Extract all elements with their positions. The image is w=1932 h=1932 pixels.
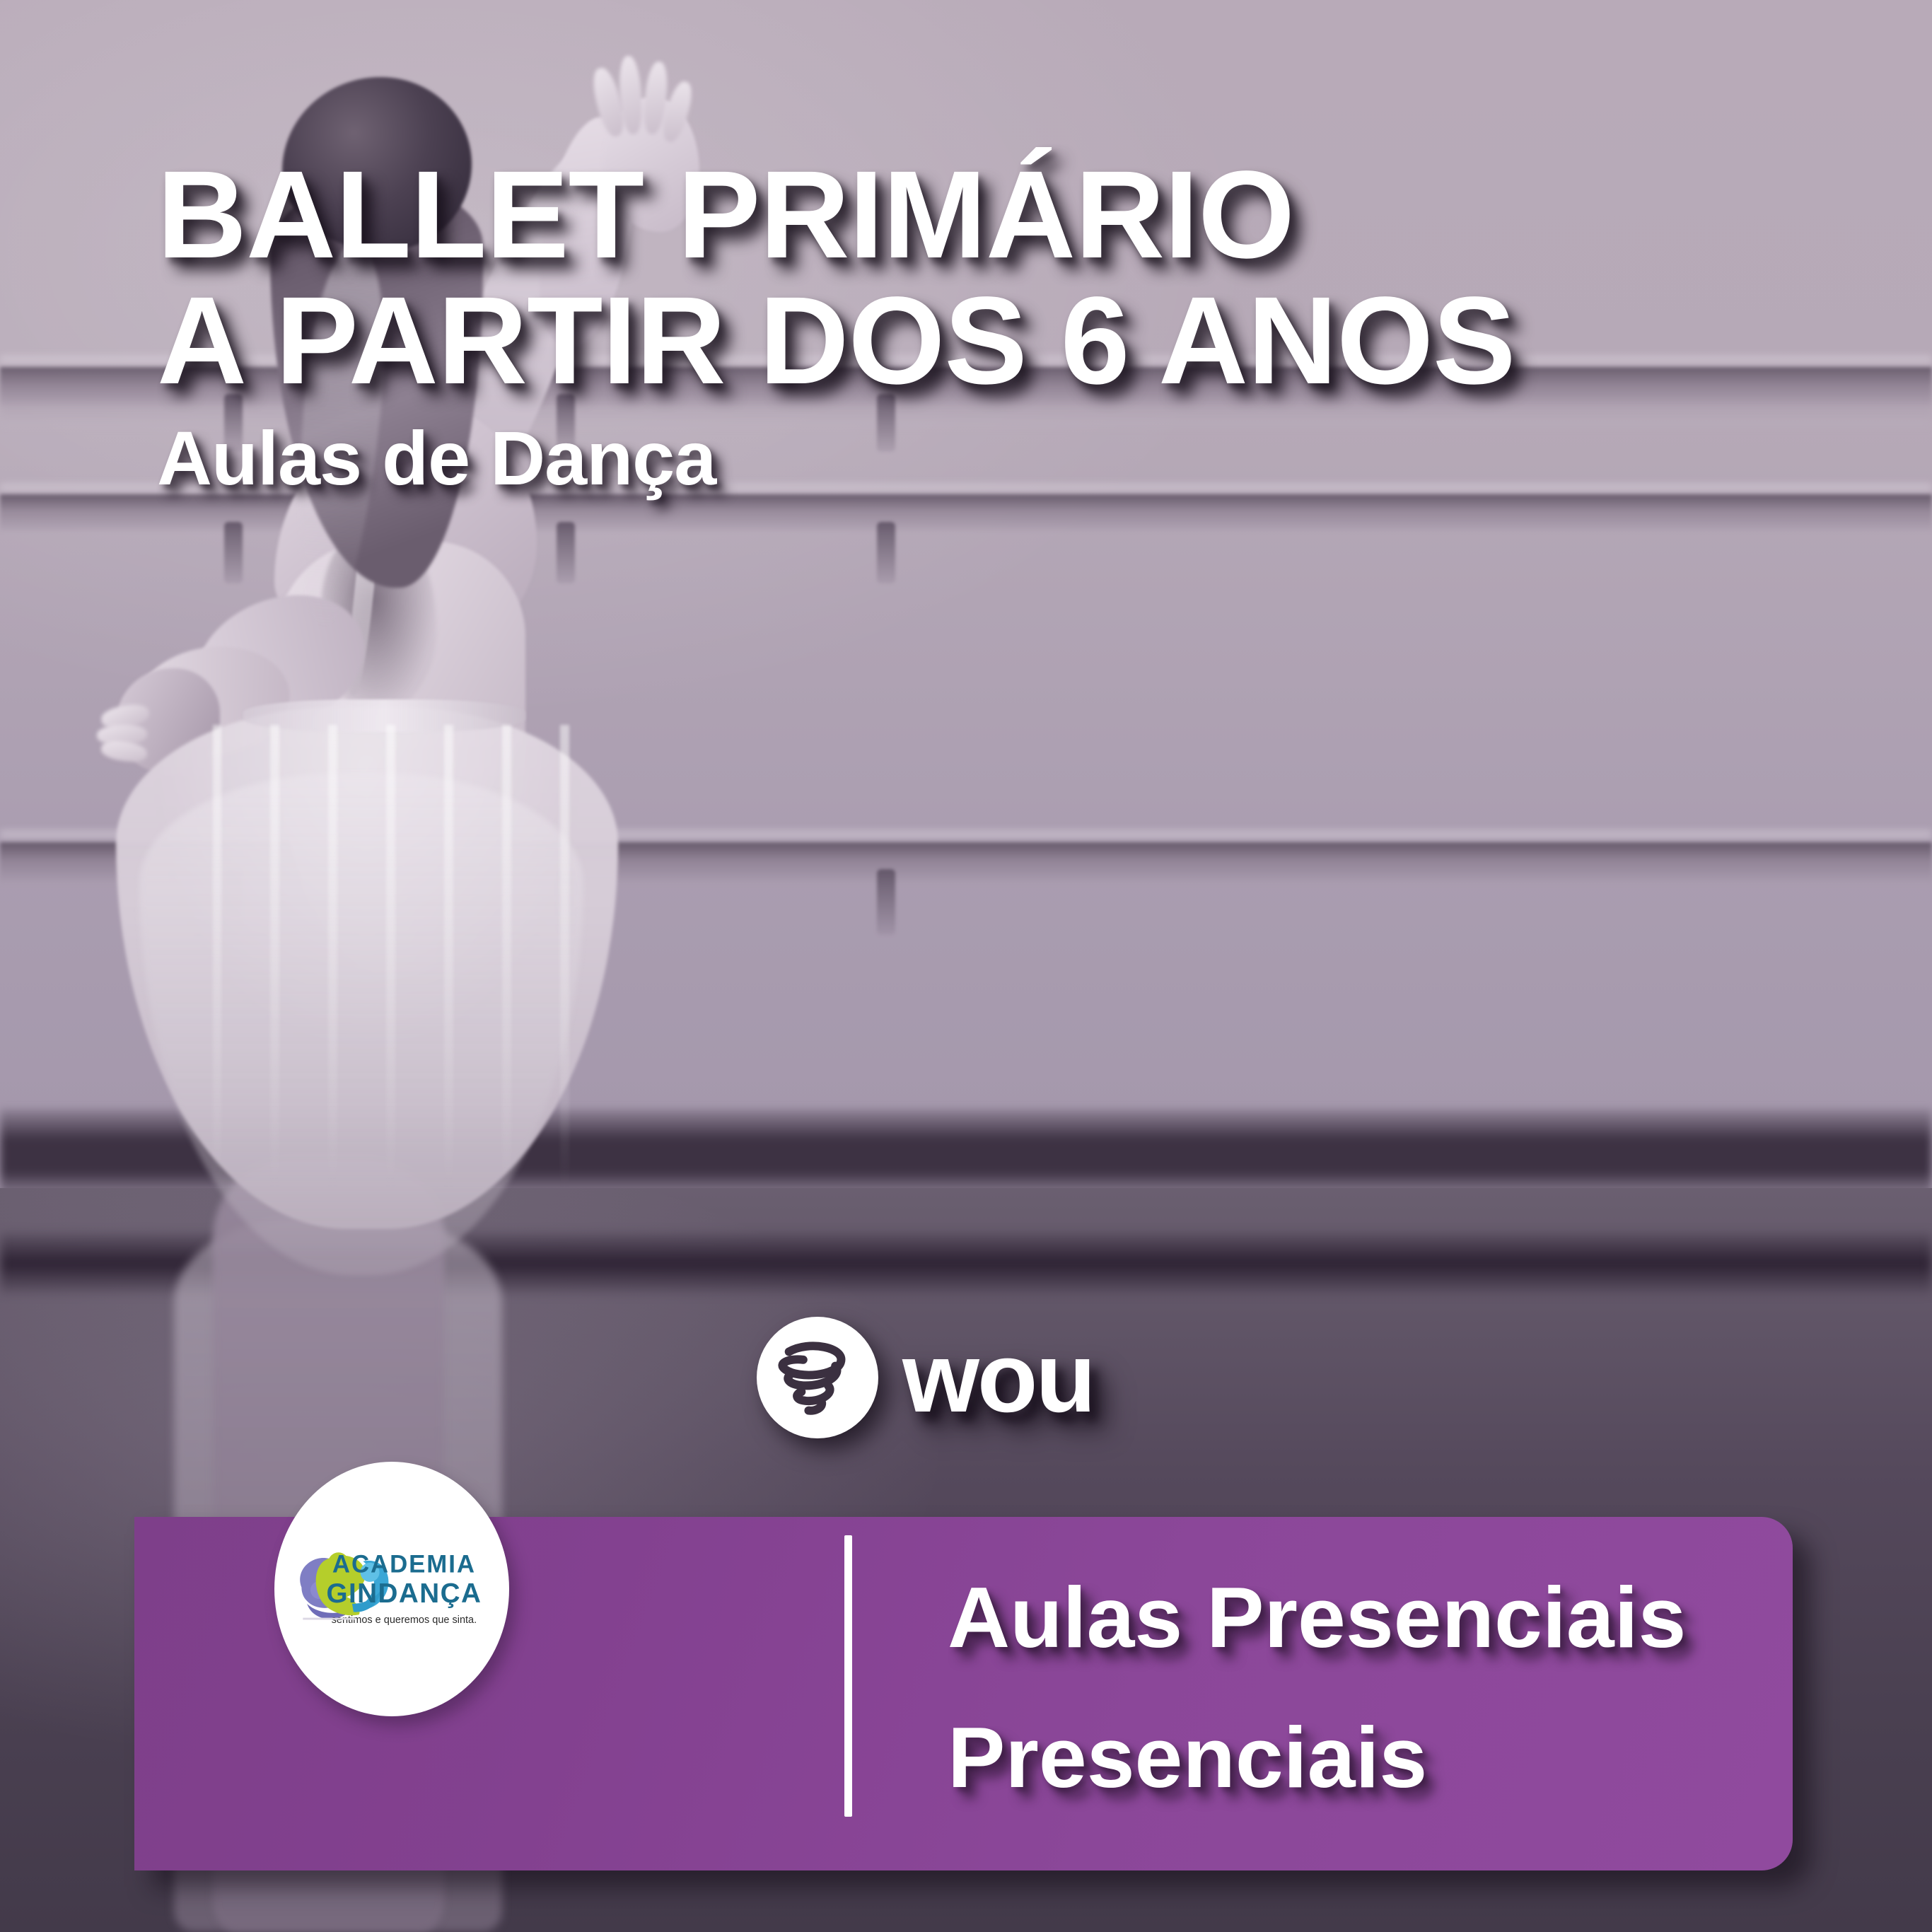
bottom-banner: ACADEMIA GINDANÇA sentimos e queremos qu… xyxy=(134,1517,1793,1870)
academy-gindanca-logo: ACADEMIA GINDANÇA sentimos e queremos qu… xyxy=(289,1538,494,1641)
banner-text-line-2: Presenciais xyxy=(948,1688,1686,1828)
headline-block: BALLET PRIMÁRIO A PARTIR DOS 6 ANOS Aula… xyxy=(157,153,1783,496)
academy-name-line1: ACADEMIA xyxy=(332,1550,476,1578)
banner-divider xyxy=(844,1535,852,1817)
headline-line-2: A PARTIR DOS 6 ANOS xyxy=(157,279,1783,405)
headline-line-1: BALLET PRIMÁRIO xyxy=(157,153,1783,279)
banner-text-block: Aulas Presenciais Presenciais xyxy=(948,1548,1686,1827)
academy-logo-badge: ACADEMIA GINDANÇA sentimos e queremos qu… xyxy=(274,1462,509,1716)
dancer-tutu-waistband xyxy=(243,699,525,732)
wou-mark-circle xyxy=(757,1317,878,1438)
wou-wordmark: wou xyxy=(902,1328,1094,1427)
academy-name-line2: GINDANÇA xyxy=(326,1578,482,1608)
banner-text-line-1: Aulas Presenciais xyxy=(948,1548,1686,1688)
wou-brand-lockup: wou xyxy=(757,1317,1094,1438)
academy-tagline: sentimos e queremos que sinta. xyxy=(332,1614,477,1625)
spiral-tornado-icon xyxy=(773,1333,862,1422)
poster-canvas: BALLET PRIMÁRIO A PARTIR DOS 6 ANOS Aula… xyxy=(0,0,1932,1932)
headline-subtitle: Aulas de Dança xyxy=(157,420,1783,496)
dancer-tutu-underlayer xyxy=(139,773,583,1275)
